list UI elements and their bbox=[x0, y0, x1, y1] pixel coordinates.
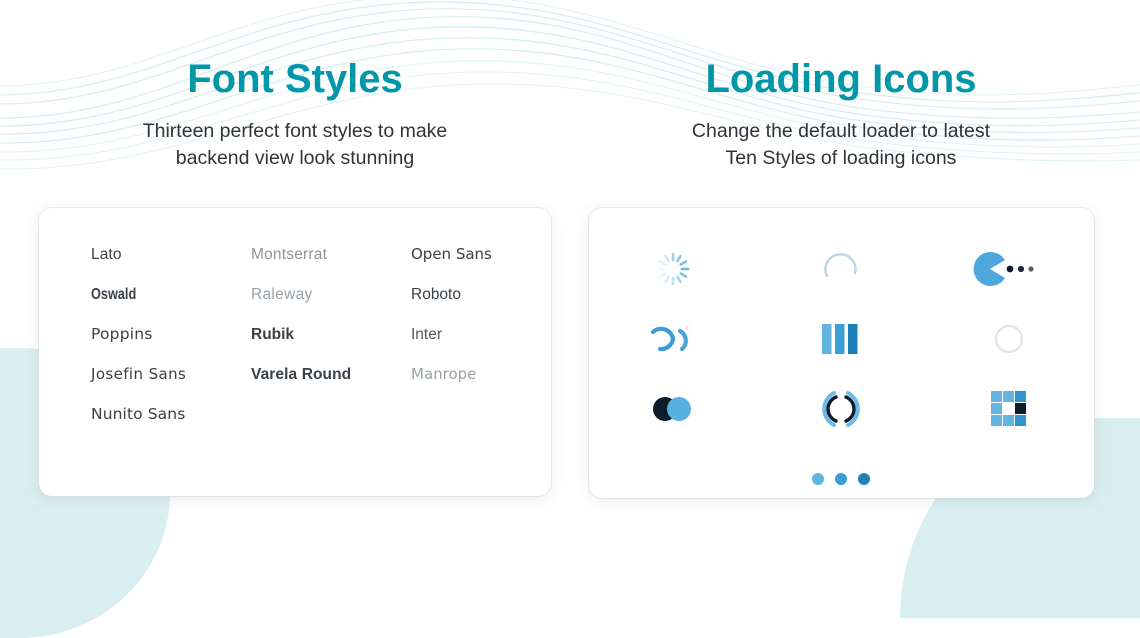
loader-cell-3[interactable] bbox=[925, 234, 1093, 304]
font-item-lato[interactable]: Lato bbox=[91, 246, 251, 263]
font-styles-panel: Font Styles Thirteen perfect font styles… bbox=[0, 0, 590, 578]
hollow-circle-icon bbox=[992, 322, 1026, 356]
font-styles-card: Lato Montserrat Open Sans Oswald Raleway… bbox=[39, 208, 551, 496]
three-bars-icon bbox=[820, 322, 862, 356]
font-item-poppins[interactable]: Poppins bbox=[91, 326, 251, 343]
loader-cell-10[interactable] bbox=[589, 444, 1094, 514]
loader-cell-2[interactable] bbox=[757, 234, 925, 304]
font-list-grid: Lato Montserrat Open Sans Oswald Raleway… bbox=[91, 246, 515, 423]
page-root: Font Styles Thirteen perfect font styles… bbox=[0, 0, 1140, 578]
loading-icons-panel: Loading Icons Change the default loader … bbox=[590, 0, 1140, 578]
font-item-open-sans[interactable]: Open Sans bbox=[411, 246, 515, 263]
nested-arcs-icon bbox=[820, 388, 862, 430]
loading-icons-subtitle: Change the default loader to latest Ten … bbox=[692, 118, 990, 172]
loading-icons-title: Loading Icons bbox=[705, 58, 976, 100]
loader-icon-grid bbox=[589, 234, 1094, 514]
font-item-montserrat[interactable]: Montserrat bbox=[251, 246, 411, 263]
loader-cell-5[interactable] bbox=[757, 304, 925, 374]
font-item-raleway[interactable]: Raleway bbox=[251, 286, 411, 303]
font-item-oswald[interactable]: Oswald bbox=[91, 286, 222, 303]
font-styles-subtitle: Thirteen perfect font styles to make bac… bbox=[143, 118, 448, 172]
dual-arc-icon bbox=[647, 319, 699, 359]
font-styles-title: Font Styles bbox=[187, 58, 403, 100]
font-item-rubik[interactable]: Rubik bbox=[251, 326, 411, 343]
font-item-manrope[interactable]: Manrope bbox=[411, 366, 515, 383]
three-dots-icon bbox=[810, 470, 872, 488]
arc-ring-icon bbox=[818, 246, 864, 292]
loader-cell-4[interactable] bbox=[589, 304, 757, 374]
font-item-inter[interactable]: Inter bbox=[411, 326, 515, 343]
loading-icons-card bbox=[589, 208, 1094, 498]
font-item-varela-round[interactable]: Varela Round bbox=[251, 366, 411, 383]
loader-cell-6[interactable] bbox=[925, 304, 1093, 374]
pacman-dots-icon bbox=[972, 251, 1046, 287]
font-item-josefin-sans[interactable]: Josefin Sans bbox=[91, 366, 251, 383]
loader-cell-7[interactable] bbox=[589, 374, 757, 444]
font-item-roboto[interactable]: Roboto bbox=[411, 286, 515, 303]
loader-cell-9[interactable] bbox=[925, 374, 1093, 444]
loader-cell-1[interactable] bbox=[589, 234, 757, 304]
spinner-spokes-icon bbox=[653, 249, 693, 289]
font-item-nunito-sans[interactable]: Nunito Sans bbox=[91, 406, 251, 423]
loader-cell-8[interactable] bbox=[757, 374, 925, 444]
two-circles-icon bbox=[649, 393, 697, 425]
grid-squares-icon bbox=[990, 390, 1028, 428]
